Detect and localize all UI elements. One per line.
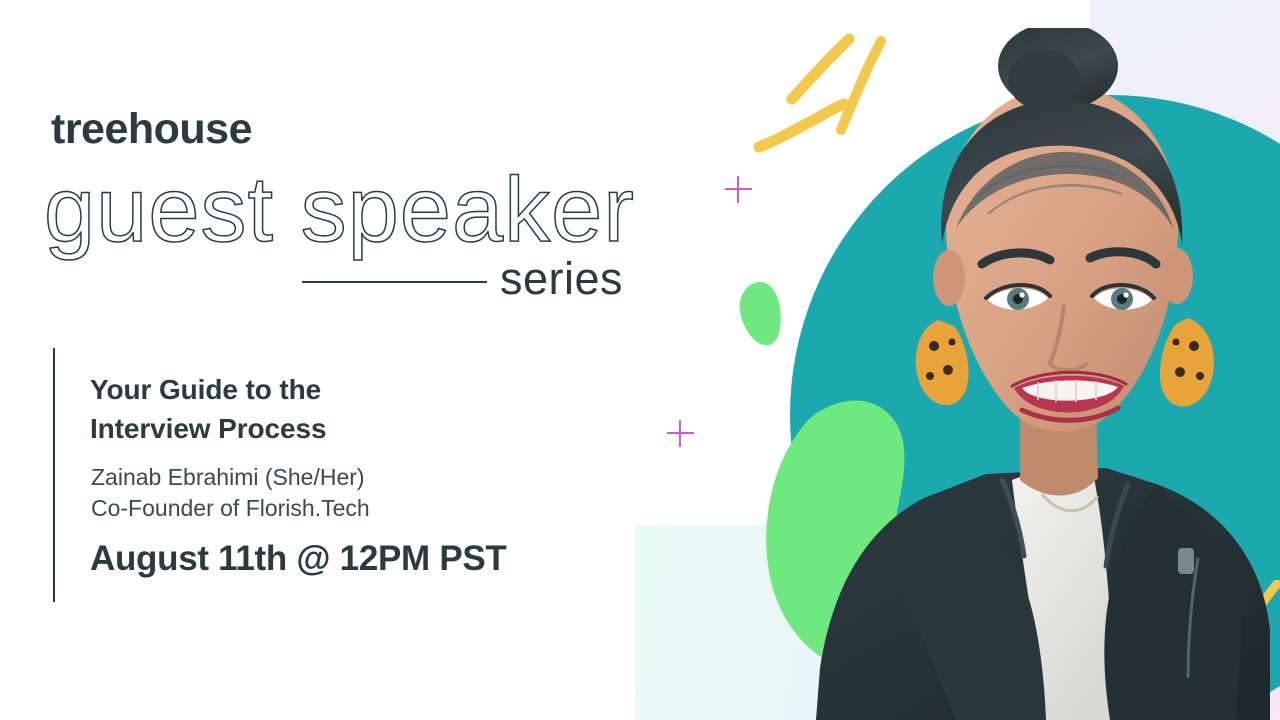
svg-text:guest speaker: guest speaker xyxy=(44,163,635,261)
vertical-rule xyxy=(53,348,55,602)
speaker-role: Co-Founder of Florish.Tech xyxy=(91,493,370,523)
brand-wordmark: treehouse xyxy=(51,108,252,151)
green-blob-icon xyxy=(735,279,787,350)
session-title-line-2: Interview Process xyxy=(90,410,326,449)
plus-mark-icon xyxy=(725,176,752,203)
plus-bar-vertical xyxy=(737,176,739,203)
session-title-line-1: Your Guide to the xyxy=(90,371,326,410)
speaker-portrait-photo xyxy=(806,28,1280,720)
plus-mark-icon xyxy=(667,420,694,447)
session-title: Your Guide to the Interview Process xyxy=(90,371,326,448)
headline-outline-text: guest speaker xyxy=(44,163,644,263)
plus-bar-vertical xyxy=(679,420,681,447)
promo-banner: treehouse guest speaker series Your Guid… xyxy=(0,0,1280,720)
event-datetime: August 11th @ 12PM PST xyxy=(90,538,507,580)
series-label: series xyxy=(500,256,623,301)
series-divider xyxy=(302,281,487,283)
speaker-name: Zainab Ebrahimi (She/Her) xyxy=(91,462,365,492)
